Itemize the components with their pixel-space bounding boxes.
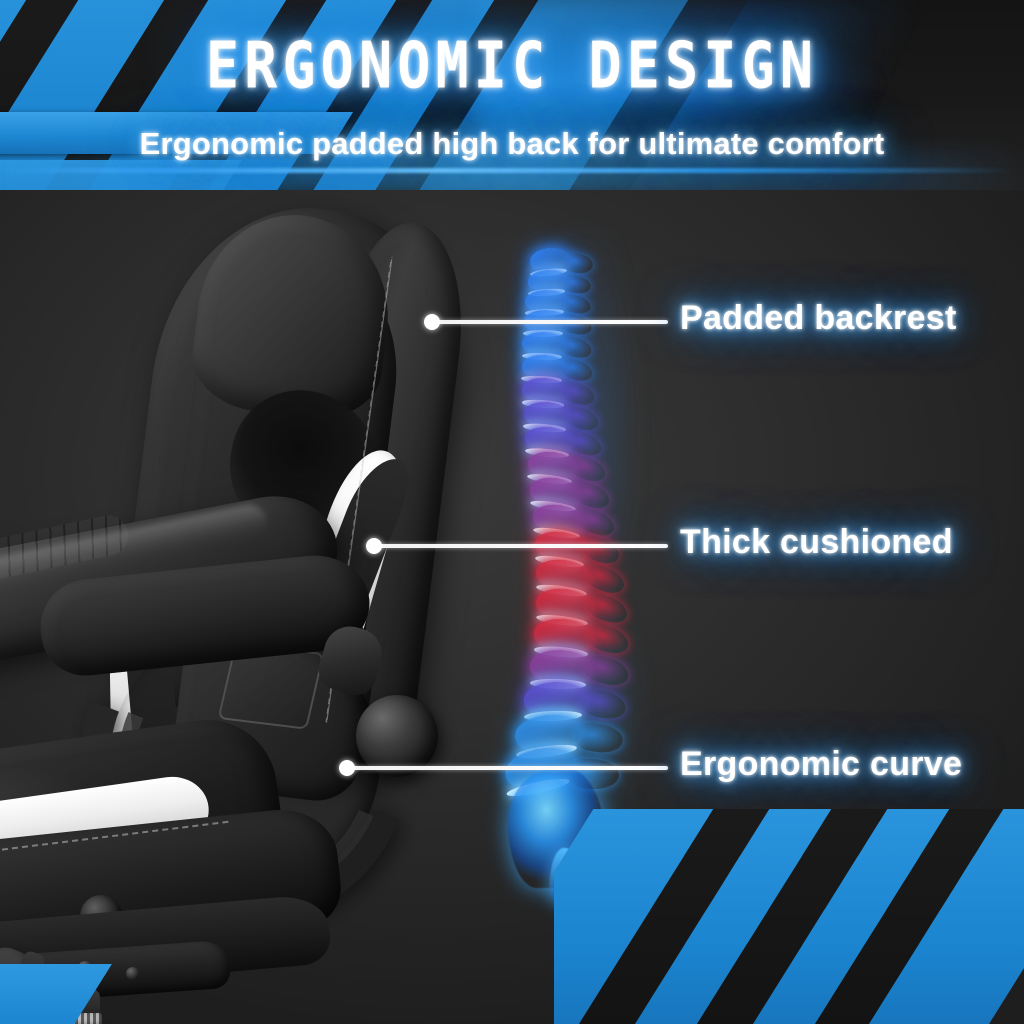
page-subtitle: Ergonomic padded high back for ultimate … [0,126,1024,162]
header-banner: ERGONOMIC DESIGN Ergonomic padded high b… [0,0,1024,190]
callout-anchor-dot-2 [366,538,382,554]
callout-leader-line-3 [345,766,668,770]
callout-label-3: Ergonomic curve [680,745,962,784]
callout-anchor-dot-1 [424,314,440,330]
callout-leader-line-1 [430,320,668,324]
callout-label-1: Padded backrest [680,299,957,338]
callout-anchor-dot-3 [339,760,355,776]
header-rule [0,168,1024,173]
page-title: ERGONOMIC DESIGN [0,28,1024,102]
chair-recline-knob [356,695,438,777]
decor-bottom-right [554,809,1024,1024]
chair-bolt-2 [126,967,139,980]
infographic-canvas: ERGONOMIC DESIGN Ergonomic padded high b… [0,0,1024,1024]
callout-leader-line-2 [372,544,668,548]
callout-label-2: Thick cushioned [680,523,953,562]
spine-anatomy-graphic [498,248,688,878]
